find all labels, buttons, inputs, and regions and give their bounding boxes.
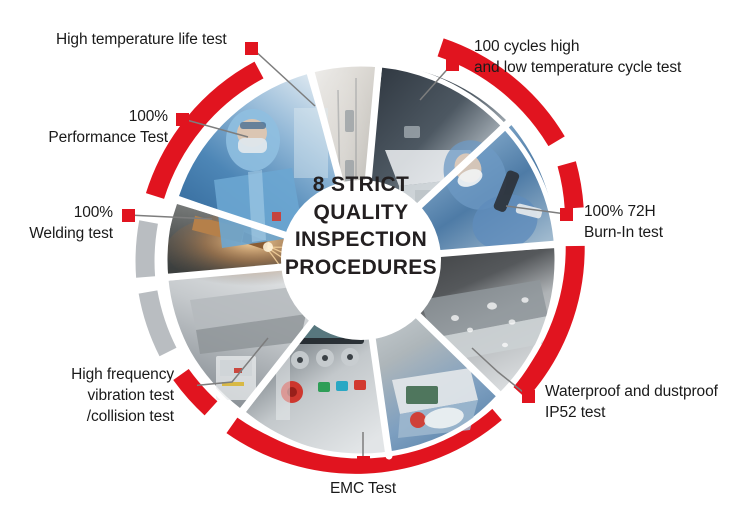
marker-performance-test[interactable] [176,113,189,126]
arc-segment-right-upper [567,164,575,208]
label-waterproof-dustproof-test[interactable]: Waterproof and dustproof IP52 test [545,381,745,423]
marker-vibration-collision-test[interactable] [184,380,197,393]
label-vibration-collision-test[interactable]: High frequency vibration test /collision… [14,364,174,427]
center-title: 8 STRICT QUALITY INSPECTION PROCEDURES [281,171,441,281]
marker-emc-test[interactable] [357,456,370,469]
label-burn-in-test[interactable]: 100% 72H Burn-In test [584,201,734,243]
marker-cycle-test[interactable] [446,58,459,71]
arc-segment-left-lower [148,292,168,352]
marker-welding-test[interactable] [122,209,135,222]
label-cycle-test[interactable]: 100 cycles high and low temperature cycl… [474,36,736,78]
infographic-canvas: 8 STRICT QUALITY INSPECTION PROCEDURES H… [0,0,750,517]
label-welding-test[interactable]: 100% Welding test [0,202,113,244]
marker-waterproof-dustproof-test[interactable] [522,390,535,403]
marker-burn-in-test[interactable] [560,208,573,221]
arc-segment-left-upper [145,222,149,277]
label-performance-test[interactable]: 100% Performance Test [8,106,168,148]
label-high-temperature-life-test[interactable]: High temperature life test [56,29,286,50]
label-emc-test[interactable]: EMC Test [303,478,423,499]
